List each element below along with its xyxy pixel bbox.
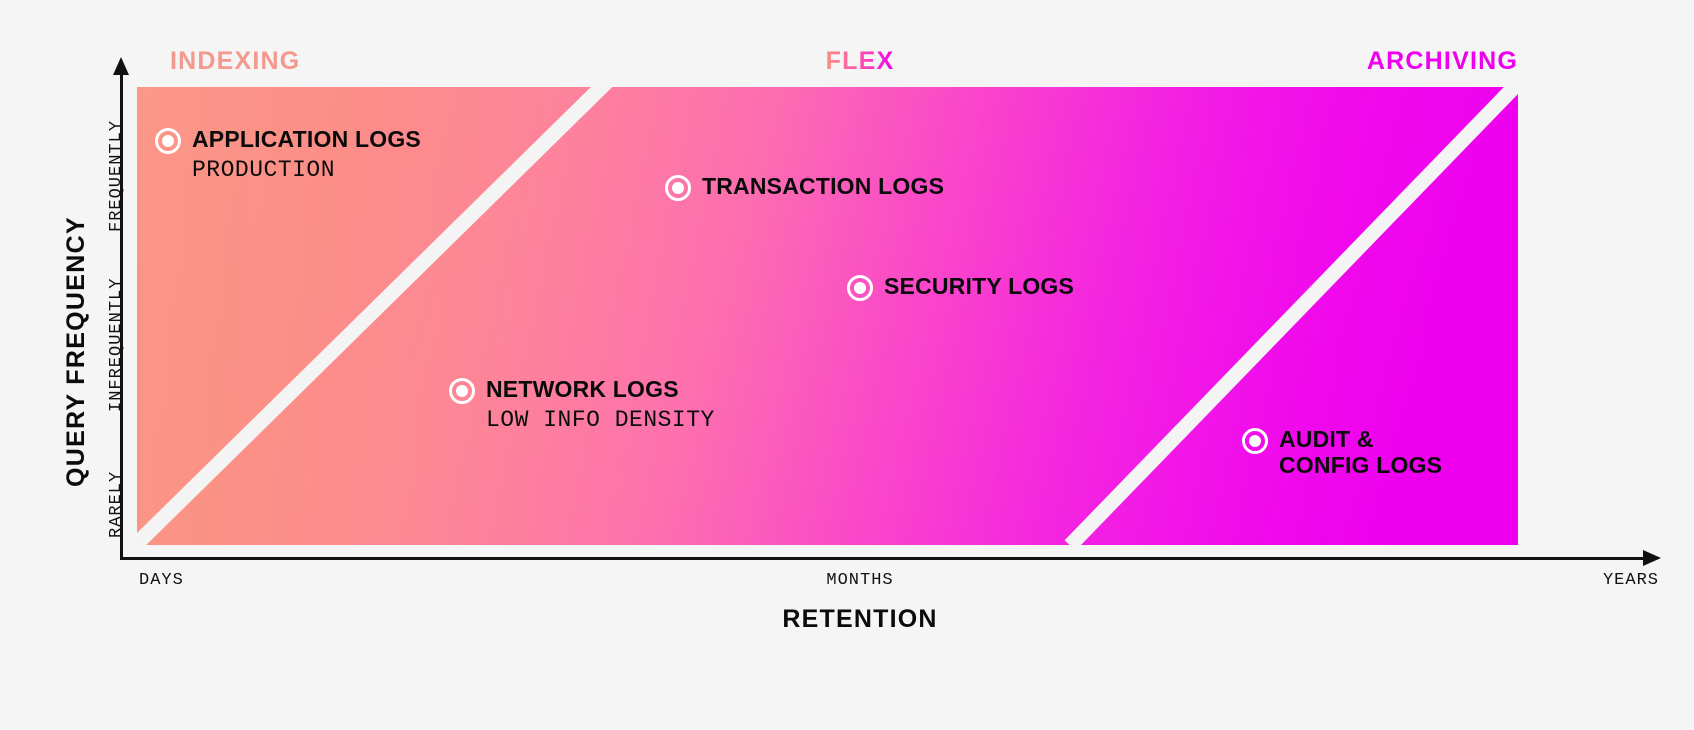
point-marker-icon [665,175,691,201]
zone-label-archiving: ARCHIVING [1367,47,1518,76]
plot-area: APPLICATION LOGS PRODUCTION TRANSACTION … [137,87,1518,545]
y-axis-tick-rarely: RARELY [107,471,126,538]
point-marker-icon [847,275,873,301]
point-marker-icon [1242,428,1268,454]
data-point-label-group: APPLICATION LOGS PRODUCTION [192,127,421,183]
data-point-audit-config-logs[interactable]: AUDIT & CONFIG LOGS [1242,427,1442,479]
data-point-application-logs[interactable]: APPLICATION LOGS PRODUCTION [155,127,421,183]
y-axis-tick-frequently: FREQUENTLY [107,120,126,232]
data-point-label-group: SECURITY LOGS [884,274,1074,300]
point-marker-icon [449,378,475,404]
y-axis-tick-infrequently: INFREQUENTLY [107,278,126,412]
data-point-label-group: NETWORK LOGS LOW INFO DENSITY [486,377,715,433]
data-point-title: SECURITY LOGS [884,273,1074,299]
data-point-sublabel: LOW INFO DENSITY [486,407,715,433]
x-axis-tick-years: YEARS [1603,571,1659,590]
zone-label-flex: FLEX [826,47,895,76]
data-point-title: AUDIT & CONFIG LOGS [1279,426,1442,478]
x-axis-tick-days: DAYS [139,571,184,590]
y-axis-title: QUERY FREQUENCY [62,216,91,487]
data-point-title: APPLICATION LOGS [192,126,421,152]
chart-canvas: INDEXING FLEX ARCHIVING APPLICATION LOGS… [0,0,1694,730]
data-point-label-group: TRANSACTION LOGS [702,174,944,200]
x-axis-line [120,557,1645,560]
data-point-label-group: AUDIT & CONFIG LOGS [1279,427,1442,479]
data-point-title: TRANSACTION LOGS [702,173,944,199]
data-point-network-logs[interactable]: NETWORK LOGS LOW INFO DENSITY [449,377,715,433]
x-axis-arrowhead-icon [1643,550,1661,566]
x-axis-tick-months: MONTHS [826,571,893,590]
point-marker-icon [155,128,181,154]
data-point-sublabel: PRODUCTION [192,157,421,183]
zone-label-indexing: INDEXING [170,47,300,76]
data-point-transaction-logs[interactable]: TRANSACTION LOGS [665,174,944,201]
data-point-security-logs[interactable]: SECURITY LOGS [847,274,1074,301]
x-axis-title: RETENTION [782,605,937,634]
data-point-title: NETWORK LOGS [486,376,679,402]
